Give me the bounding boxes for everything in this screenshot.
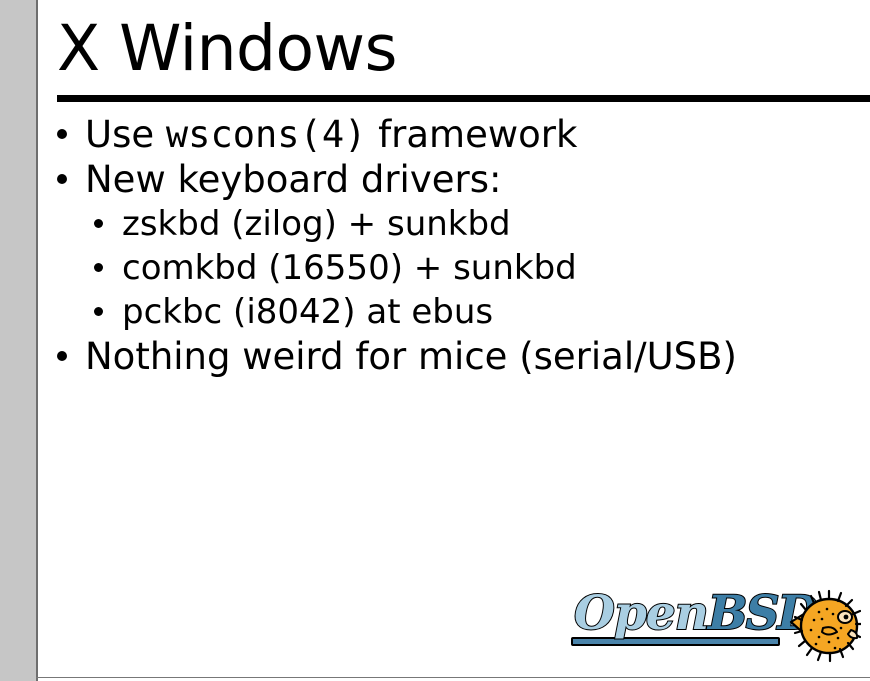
list-item-label: pckbc (i8042) at ebus	[122, 292, 493, 332]
bullet-dot-icon	[57, 129, 67, 139]
openbsd-logo: OpenBSD	[571, 582, 861, 674]
wordmark-text: OpenBSD	[574, 588, 816, 640]
list-item-label: Nothing weird for mice (serial/USB)	[85, 335, 737, 378]
list-item: comkbd (16550) + sunkbd	[38, 246, 870, 290]
list-item: pckbc (i8042) at ebus	[38, 290, 870, 334]
puffy-pufferfish-icon	[789, 582, 861, 668]
list-item-label-pre: Use	[85, 113, 166, 156]
slide-content-area: X Windows Use wscons(4) framework New ke…	[38, 0, 870, 681]
list-item-label: zskbd (zilog) + sunkbd	[122, 204, 511, 244]
presentation-slide: X Windows Use wscons(4) framework New ke…	[0, 0, 870, 681]
slide-title: X Windows	[57, 14, 397, 84]
bullet-dot-icon	[57, 174, 67, 184]
list-item: zskbd (zilog) + sunkbd	[38, 202, 870, 246]
list-item-label: New keyboard drivers:	[85, 158, 501, 201]
slide-bottom-border	[36, 677, 870, 678]
bullet-dot-icon	[94, 307, 103, 316]
slide-left-gutter	[0, 0, 36, 681]
openbsd-wordmark: OpenBSD	[571, 590, 783, 650]
list-item: Use wscons(4) framework	[38, 112, 870, 157]
bullet-dot-icon	[94, 263, 103, 272]
list-item: New keyboard drivers:	[38, 157, 870, 202]
list-item: Nothing weird for mice (serial/USB)	[38, 334, 870, 379]
bullet-dot-icon	[94, 219, 103, 228]
title-underline-rule	[57, 95, 870, 102]
list-item-label-post: framework	[366, 113, 577, 156]
bullet-dot-icon	[57, 351, 67, 361]
list-item-label: comkbd (16550) + sunkbd	[122, 248, 577, 288]
wordmark-open: Open	[574, 586, 708, 641]
list-item-manpage-ref: wscons(4)	[166, 113, 366, 156]
bullet-list: Use wscons(4) framework New keyboard dri…	[38, 112, 870, 379]
